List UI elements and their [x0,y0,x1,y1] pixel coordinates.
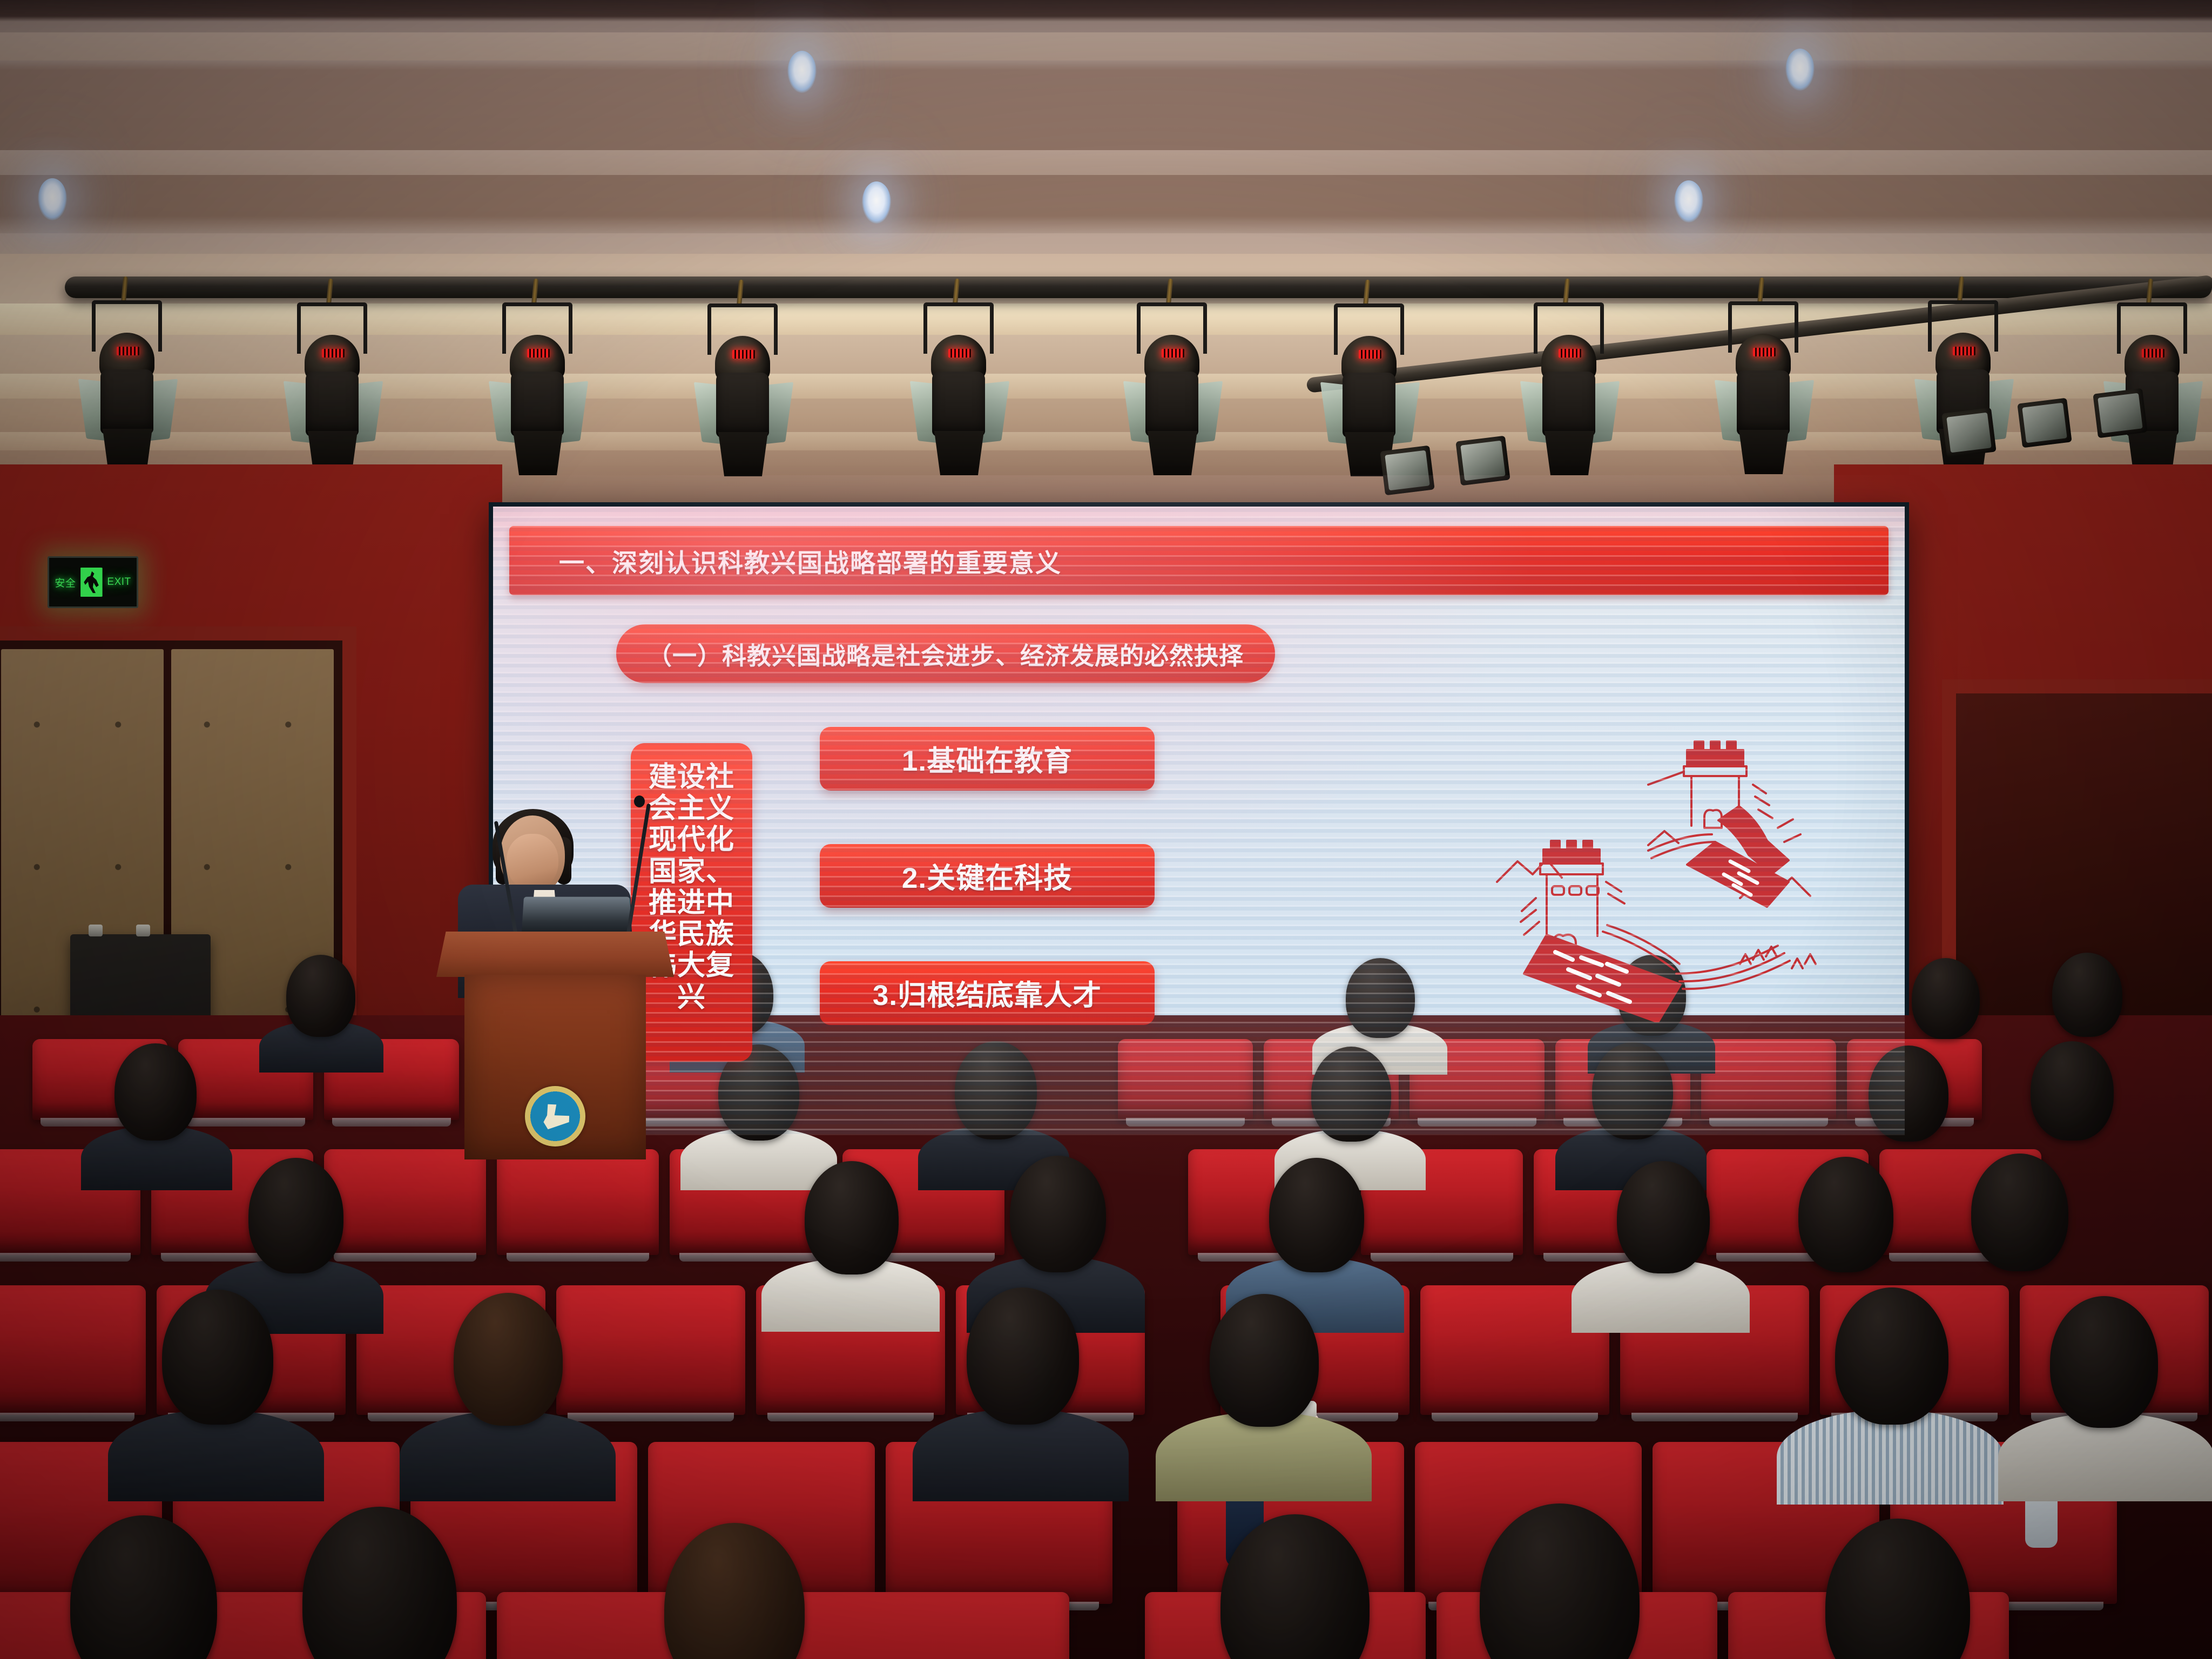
microphone-head [634,795,645,807]
audience-head [1269,1158,1364,1272]
audience-head [1617,1161,1710,1273]
slide-point-2-label: 2.关键在科技 [902,855,1073,896]
auditorium-scene: 安全 EXIT 一、深刻认识科教兴国战略部署的重要意义 （一）科教兴国战略是社会… [0,0,2212,1659]
audience-head [1311,1047,1391,1142]
audience-head [1971,1154,2068,1271]
light-led-readout [1753,348,1776,356]
light-led-readout [322,349,345,358]
auditorium-seat[interactable] [1701,1039,1836,1120]
par-can-light [1455,436,1510,486]
ceiling-downlight [1785,49,1815,91]
exit-sign-label-en: EXIT [107,576,131,588]
slide-title-text: 一、深刻认识科教兴国战略部署的重要意义 [559,542,1062,579]
auditorium-seat[interactable] [1118,1039,1253,1120]
audience-head [2052,953,2122,1037]
lighting-truss-bar [65,276,2212,298]
audience-head [1010,1156,1106,1272]
presenter-face [507,834,558,891]
podium-surface [436,932,674,977]
light-led-readout [1162,349,1184,358]
lectern-podium [436,932,674,1158]
light-led-readout [732,350,755,359]
ceiling-downlight [38,178,67,220]
slide-title-bar: 一、深刻认识科教兴国战略部署的重要意义 [509,526,1889,595]
light-led-readout [117,347,139,355]
audience-head [2031,1041,2114,1141]
audience-head [1346,958,1415,1038]
par-can-light [1380,446,1434,496]
light-led-readout [1359,350,1381,359]
auditorium-seating-area [0,1015,2212,1659]
par-can-light [1941,408,1996,458]
audience-head [1798,1157,1893,1272]
auditorium-seat[interactable] [324,1149,486,1255]
slide-point-2: 2.关键在科技 [820,844,1155,908]
light-led-readout [948,349,971,358]
exit-sign-label-cn: 安全 [55,575,76,590]
slide-subtitle-text: （一）科教兴国战略是社会进步、经济发展的必然抉择 [648,642,1244,670]
audience-head [286,955,355,1037]
audience-head [1210,1294,1319,1427]
audience-head [1835,1287,1948,1425]
audience-head [1912,958,1980,1039]
exit-sign: 安全 EXIT [48,556,138,608]
slide-point-3-label: 3.归根结底靠人才 [873,973,1102,1014]
slide-point-3: 3.归根结底靠人才 [820,961,1155,1025]
ceiling-downlight [1674,180,1703,222]
audience-head [114,1043,197,1141]
slide-subtitle-pill: （一）科教兴国战略是社会进步、经济发展的必然抉择 [616,624,1275,683]
podium-front-panel [464,975,646,1159]
great-wall-icon [1486,720,1832,1022]
auditorium-seat[interactable] [788,1592,1069,1659]
audience-head [967,1287,1079,1425]
audience-head [805,1161,899,1274]
auditorium-seat[interactable] [497,1149,659,1255]
presenter-laptop[interactable] [522,897,632,933]
par-can-light [2093,388,2147,439]
slide-point-1: 1.基础在教育 [820,727,1155,791]
audience-head [2050,1296,2158,1428]
audience-head [1869,1046,1948,1142]
ceiling [0,0,2212,270]
audience-head [1592,1042,1673,1139]
light-led-readout [2142,349,2164,358]
audience-head [248,1158,343,1273]
audience-head [162,1290,273,1425]
ceiling-downlight [862,181,891,224]
audience-head [955,1041,1037,1139]
ceiling-downlight [787,51,817,93]
auditorium-seat[interactable] [0,1285,146,1415]
institution-crest-icon [525,1086,585,1147]
auditorium-seat[interactable] [556,1285,745,1415]
running-person-icon [79,568,103,597]
light-led-readout [1559,349,1581,358]
light-led-readout [527,349,550,358]
light-led-readout [1953,347,1975,355]
slide-point-1-label: 1.基础在教育 [902,738,1073,779]
par-can-light [2017,398,2072,448]
audience-head [454,1293,563,1426]
